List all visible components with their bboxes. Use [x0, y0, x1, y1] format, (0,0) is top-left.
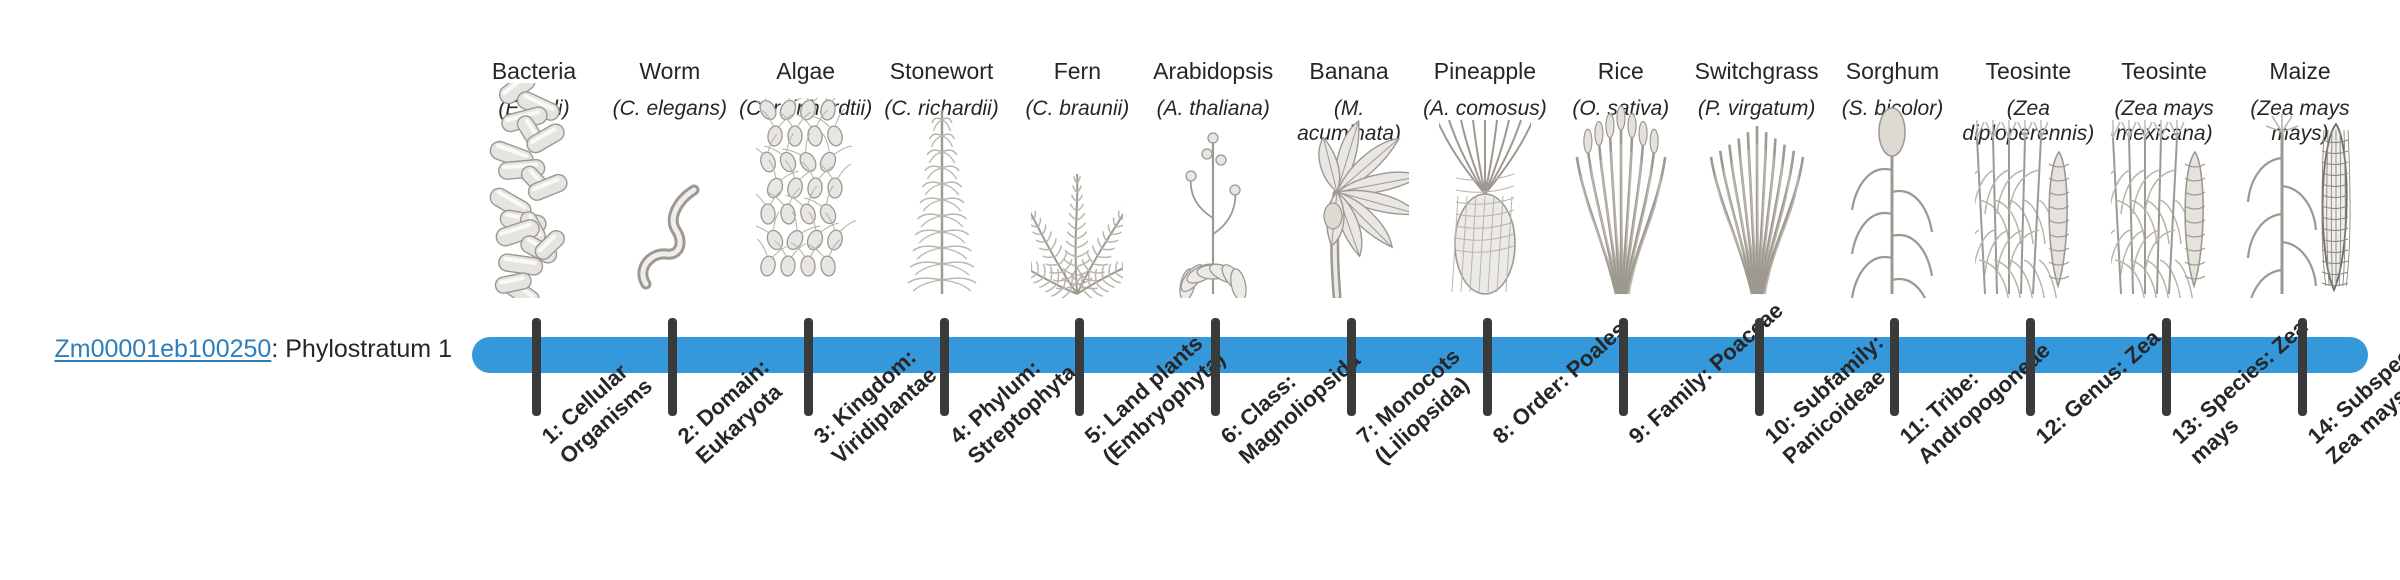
algae-icon — [756, 98, 856, 298]
species-column: Banana(M. acuminata)7: Monocots (Liliops… — [1279, 0, 1419, 580]
species-column: Pineapple(A. comosus)8: Order: Poales — [1415, 0, 1555, 580]
species-common-name: Switchgrass — [1687, 58, 1827, 85]
species-columns: Bacteria(E. coli)1: Cellular OrganismsWo… — [0, 0, 2400, 580]
species-common-name: Worm — [600, 58, 740, 85]
species-illustration — [1143, 168, 1283, 298]
phylostratum-tick[interactable] — [668, 318, 677, 416]
species-scientific-name: (C. elegans) — [600, 96, 740, 121]
species-illustration — [1551, 168, 1691, 298]
species-common-name: Maize — [2230, 58, 2370, 85]
species-illustration — [1007, 168, 1147, 298]
species-common-name: Arabidopsis — [1143, 58, 1283, 85]
phylostratum-tick[interactable] — [2026, 318, 2035, 416]
species-illustration — [1415, 168, 1555, 298]
species-illustration — [1958, 168, 2098, 298]
phylostratum-tick[interactable] — [1619, 318, 1628, 416]
species-column: Stonewort(C. richardii)4: Phylum: Strept… — [872, 0, 1012, 580]
species-common-name: Teosinte — [1958, 58, 2098, 85]
species-common-name: Bacteria — [464, 58, 604, 85]
phylostratum-figure: Zm00001eb100250: Phylostratum 1 Bacteria… — [0, 0, 2400, 580]
species-common-name: Sorghum — [1822, 58, 1962, 85]
species-illustration — [736, 168, 876, 298]
species-column: Bacteria(E. coli)1: Cellular Organisms — [464, 0, 604, 580]
teosinte-icon — [1975, 98, 2081, 298]
species-illustration — [464, 168, 604, 298]
rice-icon — [1573, 98, 1669, 298]
teosinte-icon — [2111, 98, 2217, 298]
pineapple-icon — [1439, 98, 1531, 298]
worm-icon — [632, 180, 708, 298]
stonewort-icon — [896, 98, 988, 298]
phylostratum-tick[interactable] — [532, 318, 541, 416]
species-illustration — [2230, 168, 2370, 298]
species-column: Switchgrass(P. virgatum)10: Subfamily: P… — [1687, 0, 1827, 580]
phylostratum-tick[interactable] — [1755, 318, 1764, 416]
species-common-name: Stonewort — [872, 58, 1012, 85]
arabidopsis-icon — [1167, 98, 1259, 298]
phylostratum-tick[interactable] — [2298, 318, 2307, 416]
species-illustration — [600, 168, 740, 298]
banana-icon — [1289, 98, 1409, 298]
phylostratum-tick[interactable] — [1483, 318, 1492, 416]
species-illustration — [872, 168, 1012, 298]
species-common-name: Pineapple — [1415, 58, 1555, 85]
species-column: Sorghum(S. bicolor)11: Tribe: Andropogon… — [1822, 0, 1962, 580]
maize-icon — [2244, 98, 2356, 298]
species-column: Rice(O. sativa)9: Family: Poaceae — [1551, 0, 1691, 580]
bacteria-icon — [488, 83, 580, 298]
switchgrass-icon — [1707, 98, 1807, 298]
species-column: Teosinte(Zea diploperennis)12: Genus: Ze… — [1958, 0, 2098, 580]
species-column: Fern(C. braunii)5: Land plants (Embryoph… — [1007, 0, 1147, 580]
phylostratum-tick[interactable] — [1347, 318, 1356, 416]
species-column: Worm(C. elegans)2: Domain: Eukaryota — [600, 0, 740, 580]
species-common-name: Algae — [736, 58, 876, 85]
fern-icon — [1031, 98, 1123, 298]
phylostratum-tick[interactable] — [2162, 318, 2171, 416]
rank-label: 14: Subspecies: Zea mays mays — [2302, 289, 2400, 470]
species-common-name: Fern — [1007, 58, 1147, 85]
species-illustration — [1822, 168, 1962, 298]
species-column: Maize(Zea mays mays)14: Subspecies: Zea … — [2230, 0, 2370, 580]
species-common-name: Teosinte — [2094, 58, 2234, 85]
phylostratum-tick[interactable] — [1890, 318, 1899, 416]
species-illustration — [1279, 168, 1419, 298]
phylostratum-tick[interactable] — [804, 318, 813, 416]
species-column: Arabidopsis(A. thaliana)6: Class: Magnol… — [1143, 0, 1283, 580]
species-common-name: Banana — [1279, 58, 1419, 85]
phylostratum-tick[interactable] — [1075, 318, 1084, 416]
species-common-name: Rice — [1551, 58, 1691, 85]
species-illustration — [1687, 168, 1827, 298]
species-column: Teosinte(Zea mays mexicana)13: Species: … — [2094, 0, 2234, 580]
species-illustration — [2094, 168, 2234, 298]
phylostratum-tick[interactable] — [1211, 318, 1220, 416]
sorghum-icon — [1844, 98, 1940, 298]
phylostratum-tick[interactable] — [940, 318, 949, 416]
species-column: Algae(C. reinhardtii)3: Kingdom: Viridip… — [736, 0, 876, 580]
